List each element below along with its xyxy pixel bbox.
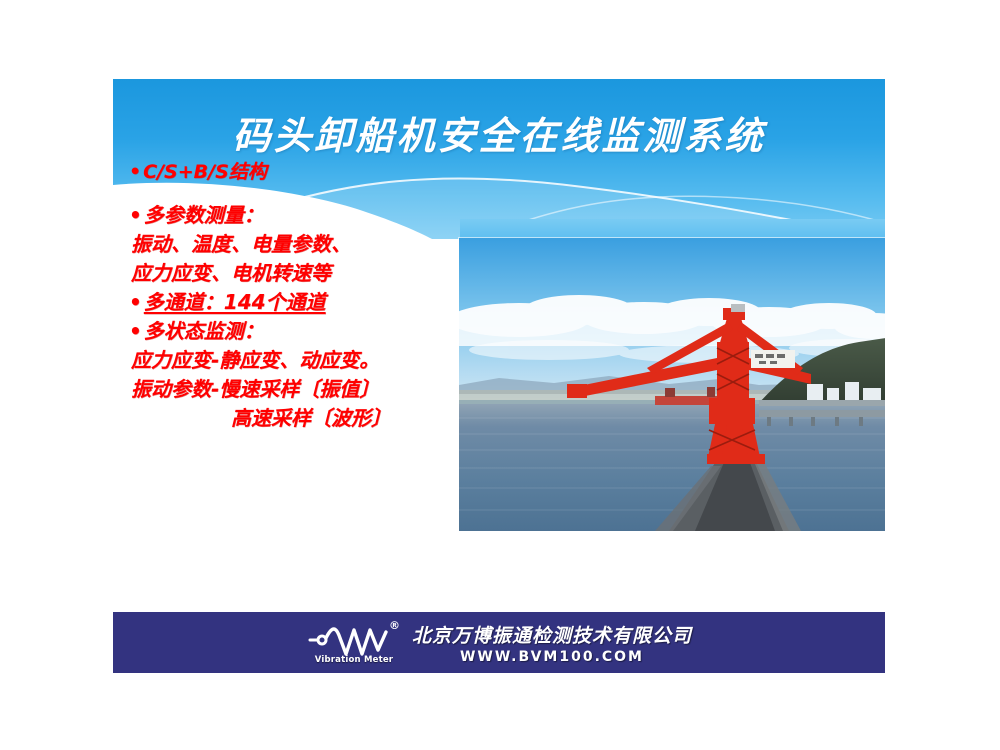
bullet-line: 应力应变-静应变、动应变。	[129, 350, 489, 370]
bullet-text: 振动参数-慢速采样〔振值〕	[131, 377, 379, 401]
bullet-marker: •	[129, 163, 141, 182]
bullet-line: 振动、温度、电量参数、	[129, 234, 489, 254]
slide-body-text: •C/S+B/S结构 •多参数测量： 振动、温度、电量参数、 应力应变、电机转速…	[129, 163, 489, 437]
registered-trademark-icon: ®	[389, 619, 400, 632]
bullet-line: •C/S+B/S结构	[129, 163, 489, 182]
vibration-meter-logo: ® Vibration Meter	[306, 620, 402, 666]
bullet-line: •多通道：144个通道	[129, 292, 489, 312]
bullet-text: 多通道：144个通道	[144, 290, 326, 314]
bullet-line: 高速采样〔波形〕	[129, 408, 489, 428]
header-blue-extension	[460, 219, 885, 239]
bullet-text: 振动、温度、电量参数、	[131, 232, 351, 256]
company-website: WWW.BVM100.COM	[460, 649, 644, 665]
bullet-text: C/S+B/S结构	[143, 161, 267, 183]
bullet-line: 应力应变、电机转速等	[129, 263, 489, 283]
company-name: 北京万博振通检测技术有限公司	[412, 621, 692, 648]
slide-title: 码头卸船机安全在线监测系统	[113, 105, 885, 160]
slide-footer-bar: ® Vibration Meter 北京万博振通检测技术有限公司 WWW.BVM…	[113, 612, 885, 673]
ship-unloader-photo	[459, 238, 885, 531]
bullet-line: •多状态监测：	[129, 321, 489, 341]
bullet-text: 高速采样〔波形〕	[231, 406, 391, 430]
bullet-text: 应力应变-静应变、动应变。	[131, 348, 379, 372]
bullet-text: 多参数测量：	[144, 203, 264, 227]
bullet-text: 应力应变、电机转速等	[131, 261, 331, 285]
bullet-line: •多参数测量：	[129, 205, 489, 225]
bullet-text: 多状态监测：	[144, 319, 264, 343]
bullet-marker: •	[129, 321, 142, 341]
bullet-marker: •	[129, 205, 142, 225]
bullet-line: 振动参数-慢速采样〔振值〕	[129, 379, 489, 399]
bullet-marker: •	[129, 292, 142, 312]
presentation-slide: 码头卸船机安全在线监测系统 •C/S+B/S结构 •多参数测量： 振动、温度、电…	[113, 79, 885, 674]
logo-caption: Vibration Meter	[306, 655, 402, 665]
